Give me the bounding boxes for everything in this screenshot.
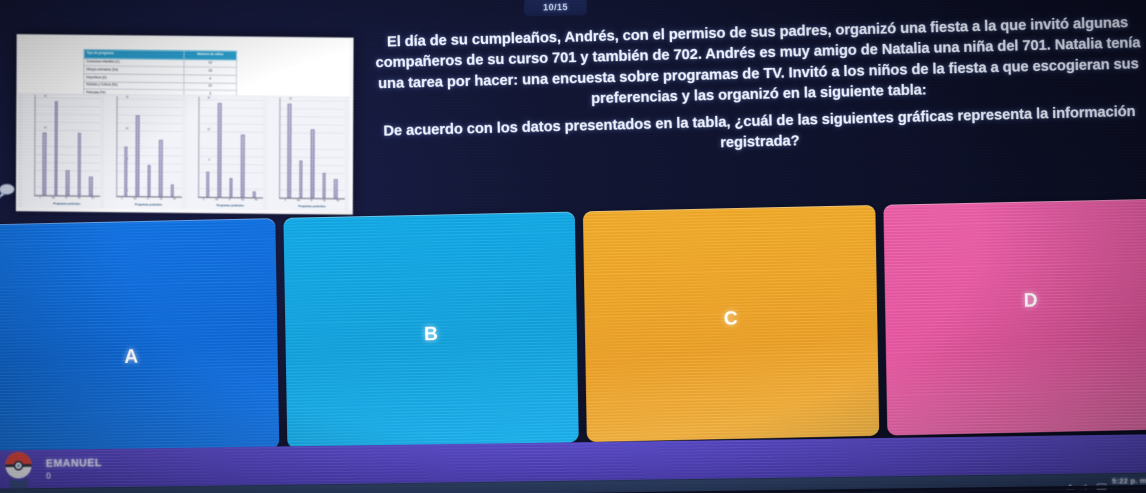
chart-bars bbox=[202, 97, 261, 198]
player-score: 0 bbox=[46, 470, 102, 481]
chart-plot-area: 151050 bbox=[279, 98, 345, 200]
answer-option-a[interactable]: A bbox=[0, 218, 279, 455]
question-prompt: El día de su cumpleaños, Andrés, con el … bbox=[367, 13, 1146, 164]
chart-bar bbox=[241, 135, 245, 198]
chart-title: Programas preferidos bbox=[279, 205, 345, 211]
chart-bar bbox=[54, 101, 58, 195]
chart-bar bbox=[42, 133, 46, 196]
chart-bar bbox=[77, 133, 81, 196]
keyboard-icon[interactable] bbox=[1097, 477, 1105, 485]
answer-option-a-label: A bbox=[124, 347, 138, 370]
chart-bars bbox=[38, 95, 97, 196]
question-prompt-part-1: El día de su cumpleaños, Andrés, con el … bbox=[367, 13, 1146, 116]
chart-bar bbox=[217, 103, 221, 197]
chart-bars bbox=[120, 96, 179, 197]
player-name: EMANUEL bbox=[46, 457, 102, 470]
chart-bar bbox=[299, 160, 303, 198]
answer-option-b[interactable]: B bbox=[283, 212, 579, 449]
candidate-bar-chart: 151050 CDaDNcPe Programas preferidos bbox=[185, 97, 263, 210]
taskbar-clock[interactable]: 5:22 p. m. bbox=[1112, 476, 1146, 486]
data-table: Tipo de programa Número de niños Concurs… bbox=[83, 49, 237, 99]
answer-option-d-label: D bbox=[1023, 290, 1037, 313]
volume-icon[interactable] bbox=[1082, 477, 1090, 485]
player-meta: EMANUEL 0 bbox=[46, 457, 102, 481]
network-icon[interactable] bbox=[1066, 477, 1074, 485]
chart-bars bbox=[283, 98, 342, 199]
chart-plot-area: 151050 bbox=[34, 95, 100, 197]
pokeball-avatar-icon bbox=[1, 450, 36, 489]
answer-option-b-label: B bbox=[424, 324, 438, 347]
answer-option-d[interactable]: D bbox=[883, 198, 1146, 435]
chart-bar bbox=[171, 184, 175, 197]
chart-bar bbox=[334, 180, 338, 199]
chart-title: Programas preferidos bbox=[198, 204, 264, 210]
chart-bar bbox=[89, 177, 93, 196]
candidate-bar-chart: 151050 CDaDNcPe Programas preferidos bbox=[22, 95, 100, 208]
chart-plot-area: 151050 bbox=[116, 96, 182, 198]
chart-bar bbox=[66, 170, 70, 195]
candidate-bar-chart: 151050 CDaDNcPe Programas preferidos bbox=[104, 96, 182, 209]
question-counter: 10/15 bbox=[524, 0, 587, 16]
magnifier-icon[interactable] bbox=[0, 182, 19, 201]
chart-plot-area: 151050 bbox=[198, 97, 264, 199]
chart-bar bbox=[229, 178, 233, 197]
chart-bar bbox=[287, 104, 291, 198]
candidate-charts-strip: 151050 CDaDNcPe Programas preferidos 151… bbox=[18, 93, 349, 211]
chart-bar bbox=[159, 140, 163, 196]
answer-options-row: A B C D bbox=[0, 199, 1146, 455]
candidate-bar-chart: 151050 CDaDNcPe Programas preferidos bbox=[267, 97, 345, 210]
chart-bar bbox=[147, 165, 151, 196]
answer-option-c-label: C bbox=[724, 308, 738, 331]
chart-title: Programas preferidos bbox=[116, 203, 182, 209]
screen-surface: 10/15 Tipo de programa Número de niños C… bbox=[0, 0, 1146, 493]
chart-bar bbox=[124, 146, 128, 196]
chart-bar bbox=[206, 172, 210, 197]
chart-bar bbox=[322, 173, 326, 198]
chart-title: Programas preferidos bbox=[34, 202, 100, 208]
answer-option-c[interactable]: C bbox=[583, 205, 879, 442]
chart-bar bbox=[311, 129, 315, 198]
stimulus-inner: Tipo de programa Número de niños Concurs… bbox=[18, 36, 350, 211]
question-stimulus-image[interactable]: Tipo de programa Número de niños Concurs… bbox=[16, 34, 354, 215]
chart-bar bbox=[136, 115, 140, 196]
photographed-quiz-screen: 10/15 Tipo de programa Número de niños C… bbox=[0, 0, 1146, 493]
chart-bar bbox=[252, 191, 256, 197]
